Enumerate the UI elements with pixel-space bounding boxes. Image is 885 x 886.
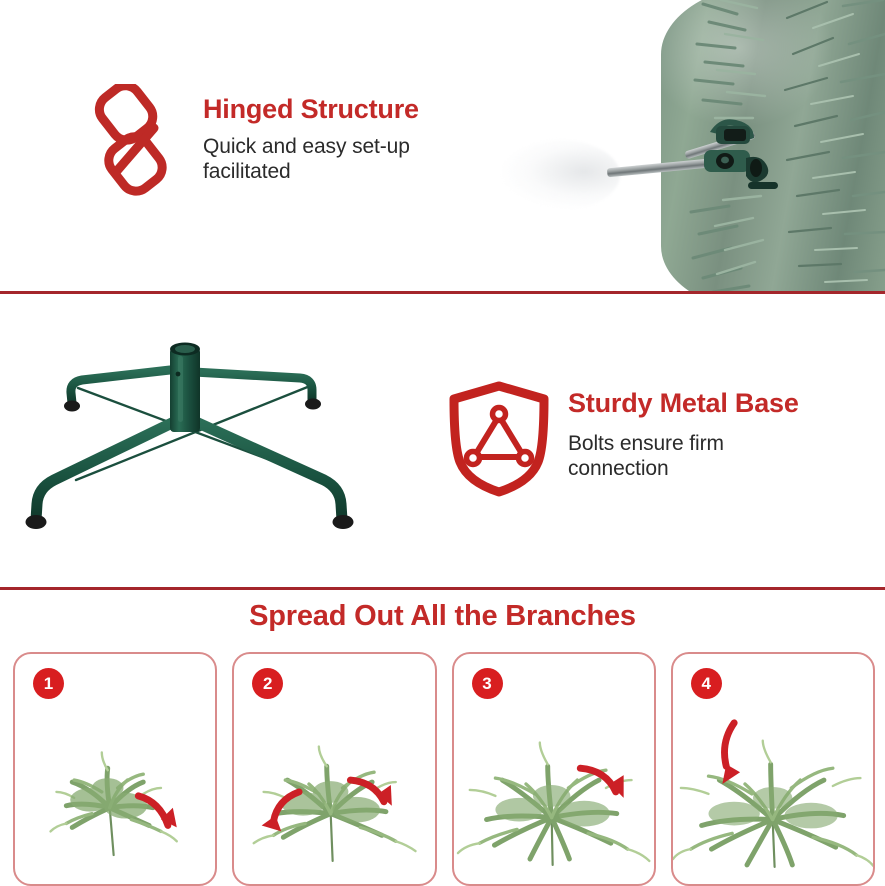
- sturdy-metal-base-text: Sturdy Metal Base Bolts ensure firm conn…: [568, 389, 868, 482]
- step-badge-3: 3: [472, 668, 503, 699]
- hinged-desc-line-1: Quick and easy set-up: [203, 134, 503, 160]
- step-badge-4: 4: [691, 668, 722, 699]
- branch-illustration-3: [454, 688, 654, 884]
- sturdy-metal-base-title: Sturdy Metal Base: [568, 389, 868, 419]
- hinge-hardware: [690, 98, 780, 198]
- step-badge-1: 1: [33, 668, 64, 699]
- sturdy-metal-base-description: Bolts ensure firm connection: [568, 431, 868, 482]
- tree-stand-photo: [18, 330, 370, 545]
- hinged-structure-description: Quick and easy set-up facilitated: [203, 134, 503, 185]
- spread-branches-heading: Spread Out All the Branches: [0, 600, 885, 633]
- step-card-4[interactable]: 4: [671, 652, 875, 886]
- chain-link-icon: [86, 84, 178, 196]
- hinged-structure-text: Hinged Structure Quick and easy set-up f…: [203, 95, 503, 185]
- infographic-page: Hinged Structure Quick and easy set-up f…: [0, 0, 885, 885]
- branch-illustration-4: [673, 688, 873, 884]
- shield-triangle-icon: [446, 380, 552, 498]
- step-card-3[interactable]: 3: [452, 652, 656, 886]
- step-card-1[interactable]: 1: [13, 652, 217, 886]
- base-desc-line-1: Bolts ensure firm: [568, 431, 868, 457]
- branch-illustration-2: [234, 688, 434, 884]
- hinged-desc-line-2: facilitated: [203, 159, 503, 185]
- rod-tip-highlight: [500, 140, 620, 210]
- section-sturdy-metal-base: Sturdy Metal Base Bolts ensure firm conn…: [0, 294, 885, 587]
- step-card-list: 1: [13, 652, 875, 882]
- section-hinged-structure: Hinged Structure Quick and easy set-up f…: [0, 0, 885, 292]
- hinged-structure-title: Hinged Structure: [203, 95, 503, 125]
- step-card-2[interactable]: 2: [232, 652, 436, 886]
- base-desc-line-2: connection: [568, 456, 868, 482]
- section-spread-branches: Spread Out All the Branches 1: [0, 590, 885, 885]
- branch-illustration-1: [15, 688, 215, 884]
